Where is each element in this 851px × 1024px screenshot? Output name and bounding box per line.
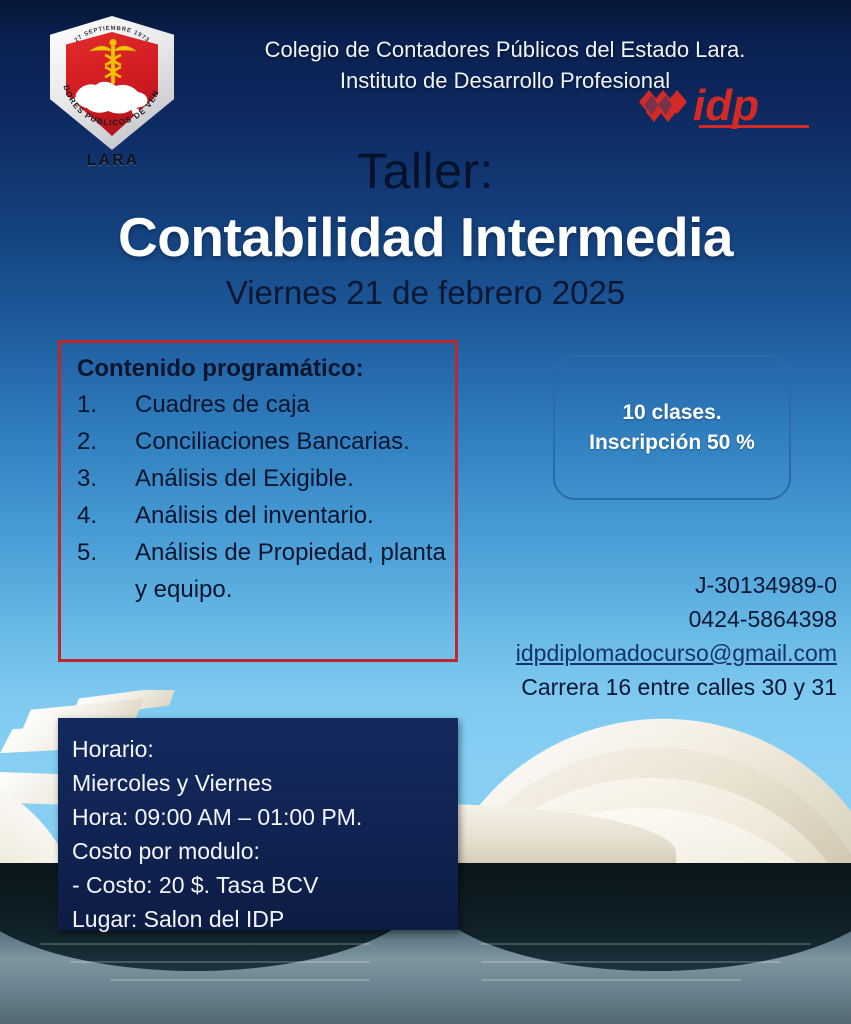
list-item: 5. Análisis de Propiedad, planta y equip…: [77, 534, 455, 608]
poster-canvas: CONTADORES PUBLICOS DE VENEZUELA 27 SEPT…: [0, 0, 851, 1024]
list-item-number: 4.: [77, 497, 135, 534]
event-date: Viernes 21 de febrero 2025: [0, 274, 851, 312]
contact-address: Carrera 16 entre calles 30 y 31: [516, 670, 837, 704]
enrollment-discount: Inscripción 50 %: [589, 431, 755, 455]
page-title: Contabilidad Intermedia: [0, 205, 851, 269]
reflection-streak: [110, 979, 370, 981]
contact-rif: J-30134989-0: [516, 568, 837, 602]
schedule-info-box: Horario: Miercoles y Viernes Hora: 09:00…: [58, 718, 458, 930]
enrollment-info-box: 10 clases. Inscripción 50 %: [553, 355, 791, 500]
reflection-streak: [481, 943, 811, 945]
list-item: 2. Conciliaciones Bancarias.: [77, 423, 455, 460]
list-item-label: Análisis del Exigible.: [135, 460, 455, 497]
contact-info-block: J-30134989-0 0424-5864398 idpdiplomadocu…: [516, 568, 837, 704]
idp-wordmark: idp: [693, 81, 759, 130]
reflection-streak: [40, 943, 370, 945]
workshop-kicker: Taller:: [0, 142, 851, 200]
list-item-label: Análisis del inventario.: [135, 497, 455, 534]
enrollment-classes-count: 10 clases.: [622, 401, 721, 425]
schedule-cost-value: - Costo: 20 $. Tasa BCV: [72, 868, 458, 902]
idp-logo-icon: idp: [627, 80, 827, 138]
list-item: 1. Cuadres de caja: [77, 386, 455, 423]
programme-heading: Contenido programático:: [77, 355, 455, 383]
schedule-hours: Hora: 09:00 AM – 01:00 PM.: [72, 800, 458, 834]
list-item-label: Conciliaciones Bancarias.: [135, 423, 455, 460]
reflection-streak: [70, 961, 370, 963]
contact-email-link[interactable]: idpdiplomadocurso@gmail.com: [516, 636, 837, 670]
reflection-streak: [481, 979, 741, 981]
schedule-cost-heading: Costo por modulo:: [72, 834, 458, 868]
list-item: 3. Análisis del Exigible.: [77, 460, 455, 497]
programme-content-box: Contenido programático: 1. Cuadres de ca…: [58, 340, 458, 662]
programme-list: 1. Cuadres de caja 2. Conciliaciones Ban…: [77, 386, 455, 608]
list-item-number: 2.: [77, 423, 135, 460]
schedule-location: Lugar: Salon del IDP: [72, 902, 458, 936]
list-item: 4. Análisis del inventario.: [77, 497, 455, 534]
list-item-number: 5.: [77, 534, 135, 608]
desk-shadow-right: [421, 863, 851, 971]
org-line-1: Colegio de Contadores Públicos del Estad…: [265, 37, 746, 62]
list-item-label: Cuadres de caja: [135, 386, 455, 423]
venezuela-map-icon: [70, 74, 154, 122]
schedule-heading: Horario:: [72, 732, 458, 766]
list-item-number: 1.: [77, 386, 135, 423]
list-item-number: 3.: [77, 460, 135, 497]
contact-phone[interactable]: 0424-5864398: [516, 602, 837, 636]
list-item-label: Análisis de Propiedad, planta y equipo.: [135, 534, 455, 608]
schedule-days: Miercoles y Viernes: [72, 766, 458, 800]
reflection-streak: [481, 961, 781, 963]
